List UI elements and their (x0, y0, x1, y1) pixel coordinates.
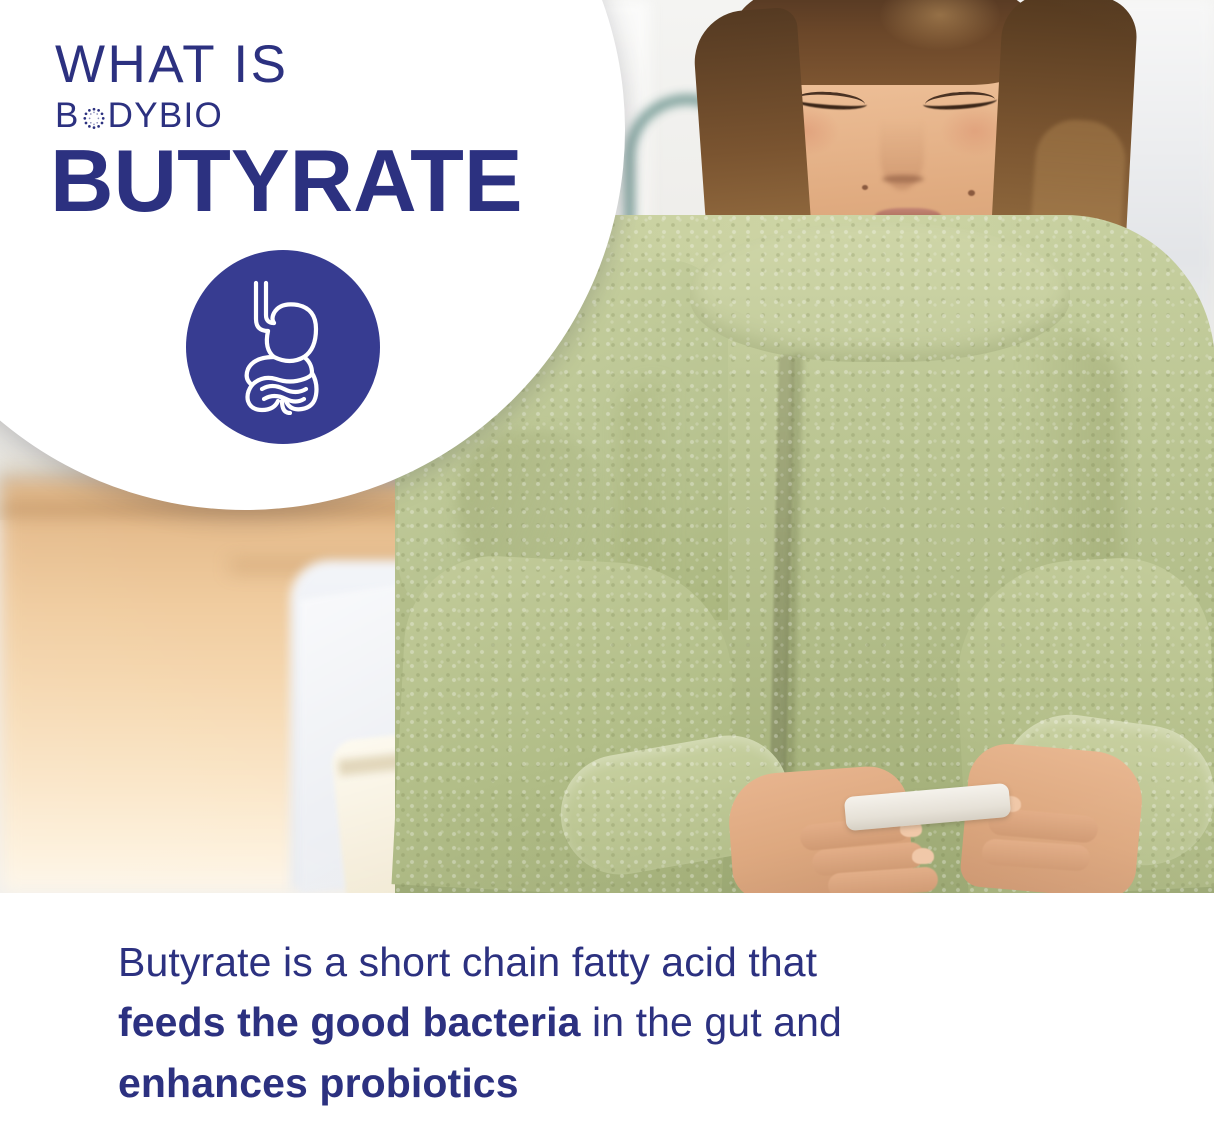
beauty-mark (862, 185, 868, 190)
infographic-page: WHAT IS B (0, 0, 1214, 1139)
caption-line-2-tail: in the gut and (581, 999, 842, 1045)
caption-text: Butyrate is a short chain fatty acid tha… (118, 932, 1098, 1113)
beauty-mark (968, 190, 975, 196)
caption-bold-enhances: enhances probiotics (118, 1060, 519, 1106)
caption-bold-feeds: feeds the good bacteria (118, 999, 581, 1045)
nostrils (882, 175, 924, 183)
fingernail (912, 848, 934, 864)
caption-line-1: Butyrate is a short chain fatty acid tha… (118, 939, 817, 985)
